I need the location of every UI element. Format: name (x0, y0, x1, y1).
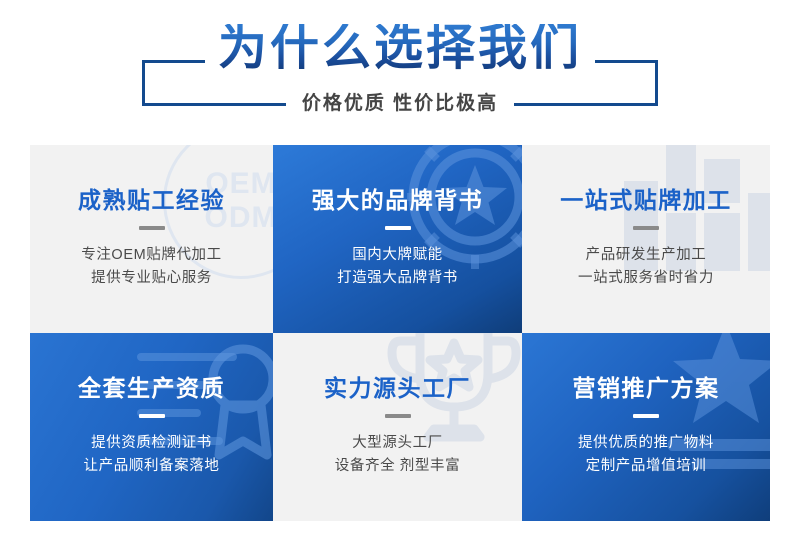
feature-cell-marketing-promotion-plan[interactable]: 营销推广方案 提供优质的推广物料 定制产品增值培训 (522, 333, 770, 521)
feature-cell-strong-brand-endorsement[interactable]: 强大的品牌背书 国内大牌赋能 打造强大品牌背书 (273, 145, 522, 333)
feature-line-1: 提供资质检测证书 (30, 432, 273, 455)
feature-line-1: 专注OEM贴牌代加工 (30, 244, 273, 267)
feature-divider (385, 226, 411, 230)
feature-title: 全套生产资质 (30, 376, 273, 401)
feature-line-2: 设备齐全 剂型丰富 (273, 455, 522, 478)
feature-divider (385, 414, 411, 418)
feature-content: 一站式贴牌加工 产品研发生产加工 一站式服务省时省力 (522, 188, 770, 290)
page-subtitle: 价格优质 性价比极高 (286, 93, 514, 115)
feature-cell-strong-source-factory[interactable]: 实力源头工厂 大型源头工厂 设备齐全 剂型丰富 (273, 333, 522, 521)
feature-divider (139, 226, 165, 230)
feature-content: 营销推广方案 提供优质的推广物料 定制产品增值培训 (522, 376, 770, 478)
features-grid: OEM ODM 成熟贴工经验 专注OEM贴牌代加工 提供专业贴心服务 (30, 145, 770, 521)
feature-line-2: 让产品顺利备案落地 (30, 455, 273, 478)
feature-title: 强大的品牌背书 (273, 188, 522, 213)
feature-divider (633, 414, 659, 418)
feature-title: 成熟贴工经验 (30, 188, 273, 213)
feature-line-1: 提供优质的推广物料 (522, 432, 770, 455)
feature-line-2: 打造强大品牌背书 (273, 267, 522, 290)
feature-content: 强大的品牌背书 国内大牌赋能 打造强大品牌背书 (273, 188, 522, 290)
feature-title: 实力源头工厂 (273, 376, 522, 401)
page-subtitle-wrap: 价格优质 性价比极高 (0, 93, 800, 115)
feature-divider (633, 226, 659, 230)
page-title-wrap: 为什么选择我们 (0, 24, 800, 73)
feature-content: 全套生产资质 提供资质检测证书 让产品顺利备案落地 (30, 376, 273, 478)
feature-divider (139, 414, 165, 418)
feature-line-1: 产品研发生产加工 (522, 244, 770, 267)
page-title: 为什么选择我们 (196, 24, 604, 73)
feature-cell-mature-oem-experience[interactable]: OEM ODM 成熟贴工经验 专注OEM贴牌代加工 提供专业贴心服务 (30, 145, 273, 333)
feature-content: 成熟贴工经验 专注OEM贴牌代加工 提供专业贴心服务 (30, 188, 273, 290)
feature-line-1: 大型源头工厂 (273, 432, 522, 455)
feature-line-2: 一站式服务省时省力 (522, 267, 770, 290)
page-header: 为什么选择我们 价格优质 性价比极高 (0, 0, 800, 140)
feature-line-1: 国内大牌赋能 (273, 244, 522, 267)
feature-line-2: 定制产品增值培训 (522, 455, 770, 478)
feature-cell-full-production-qualifications[interactable]: 全套生产资质 提供资质检测证书 让产品顺利备案落地 (30, 333, 273, 521)
feature-content: 实力源头工厂 大型源头工厂 设备齐全 剂型丰富 (273, 376, 522, 478)
feature-title: 营销推广方案 (522, 376, 770, 401)
feature-cell-one-stop-oem-processing[interactable]: 一站式贴牌加工 产品研发生产加工 一站式服务省时省力 (522, 145, 770, 333)
feature-title: 一站式贴牌加工 (522, 188, 770, 213)
feature-line-2: 提供专业贴心服务 (30, 267, 273, 290)
